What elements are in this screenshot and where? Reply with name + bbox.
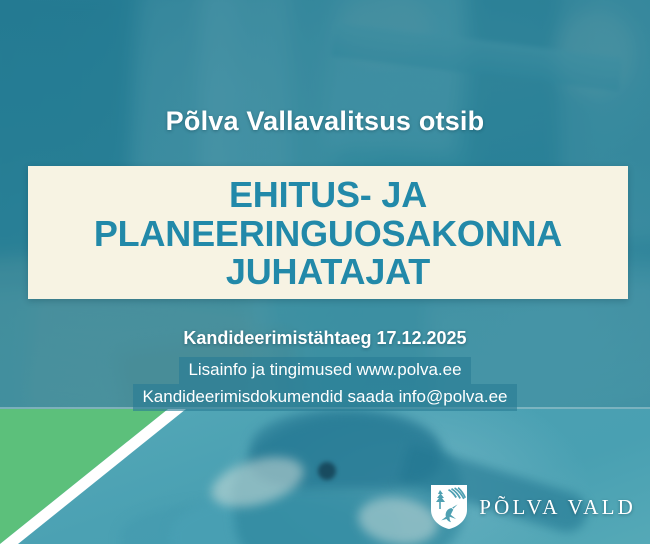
- job-title-line-3: JUHATAJAT: [28, 253, 628, 292]
- info-line-website[interactable]: Lisainfo ja tingimused www.polva.ee: [179, 357, 470, 384]
- cream-banner: EHITUS- JA PLANEERINGUOSAKONNA JUHATAJAT: [28, 166, 628, 299]
- info-line-email[interactable]: Kandideerimisdokumendid saada info@polva…: [133, 384, 516, 411]
- kicker-text: Põlva Vallavalitsus otsib: [0, 106, 650, 137]
- info-lines: Lisainfo ja tingimused www.polva.ee Kand…: [0, 357, 650, 411]
- job-title: EHITUS- JA PLANEERINGUOSAKONNA JUHATAJAT: [28, 176, 628, 292]
- job-title-line-2: PLANEERINGUOSAKONNA: [28, 215, 628, 254]
- job-title-line-1: EHITUS- JA: [28, 176, 628, 215]
- logo-wordmark: PÕLVA VALD: [479, 495, 636, 520]
- kingfisher-eye: [318, 462, 336, 480]
- polva-coat-of-arms-icon: [430, 484, 468, 530]
- poster: Põlva Vallavalitsus otsib EHITUS- JA PLA…: [0, 0, 650, 544]
- application-deadline: Kandideerimistähtaeg 17.12.2025: [0, 328, 650, 349]
- polva-vald-logo[interactable]: PÕLVA VALD: [430, 484, 636, 530]
